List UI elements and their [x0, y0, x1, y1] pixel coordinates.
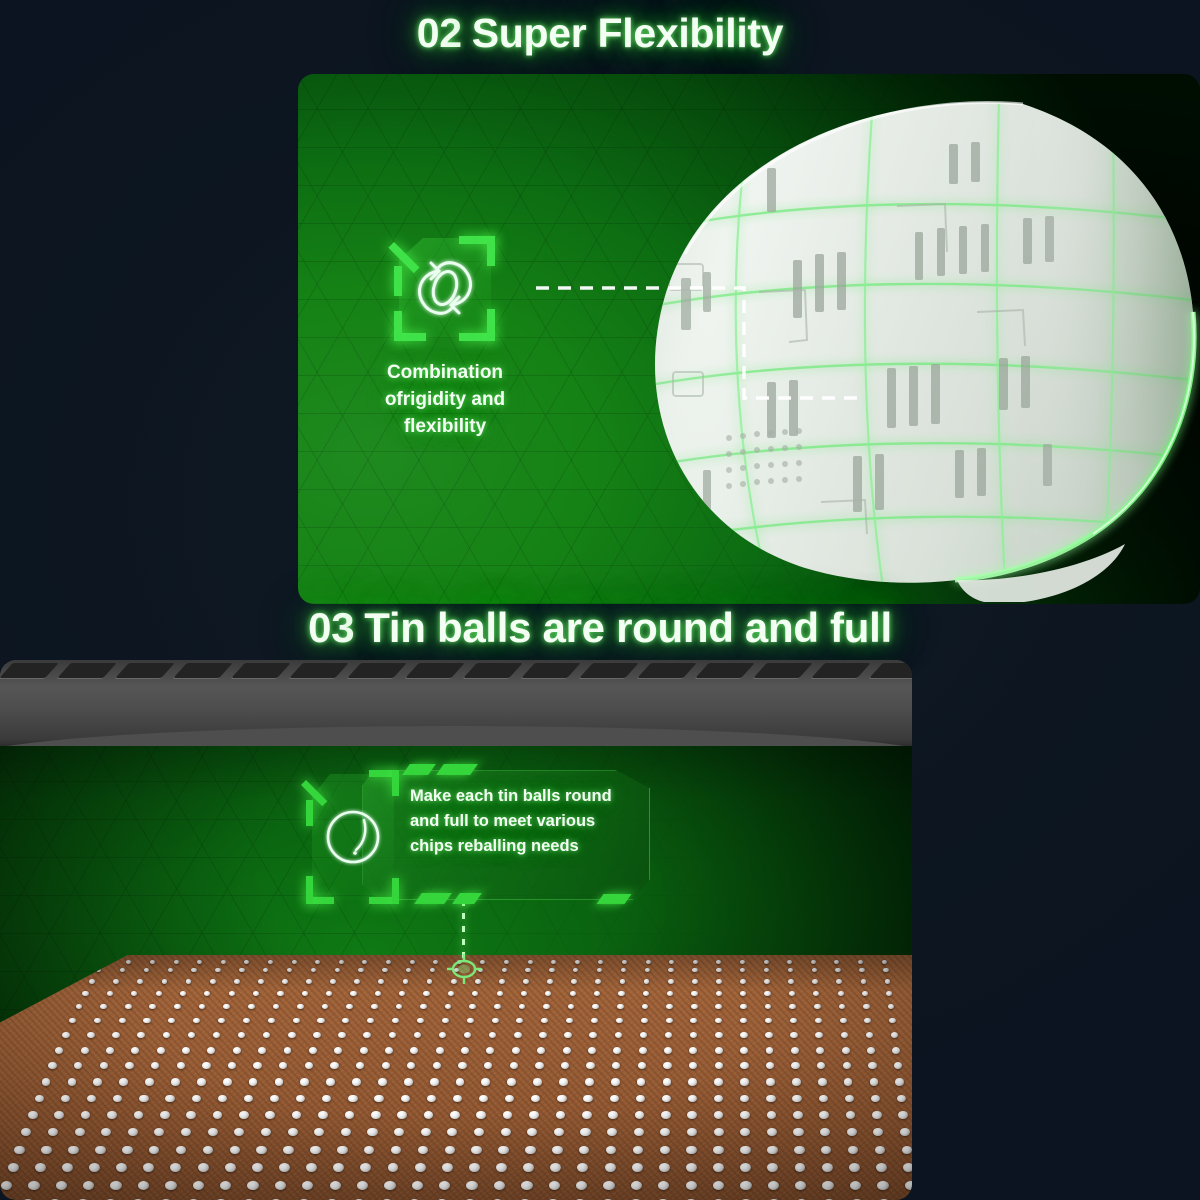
solder-ball	[877, 1181, 888, 1190]
solder-ball	[125, 1062, 133, 1069]
solder-ball	[559, 1078, 568, 1085]
solder-ball	[120, 968, 125, 972]
section-title-text-02: Super Flexibility	[472, 10, 784, 56]
solder-ball	[689, 1062, 697, 1069]
solder-ball	[275, 1181, 286, 1190]
solder-ball	[841, 1032, 849, 1038]
solder-ball	[330, 1062, 338, 1069]
solder-ball	[875, 1146, 886, 1155]
solder-ball	[270, 1095, 279, 1103]
solder-ball	[790, 1018, 797, 1024]
solder-ball	[598, 960, 603, 964]
solder-ball	[203, 1146, 214, 1155]
solder-ball	[163, 1032, 171, 1038]
solder-ball	[489, 1032, 497, 1038]
callout-line-1: Make each tin balls round	[410, 784, 638, 809]
solder-ball	[248, 1004, 255, 1009]
solder-ball	[714, 1111, 724, 1119]
solder-ball	[215, 968, 220, 972]
solder-ball	[646, 960, 651, 964]
vent-slot	[753, 663, 813, 678]
page-background: 02Super Flexibility	[0, 0, 1200, 1200]
solder-ball	[740, 979, 746, 984]
solder-ball	[848, 1146, 859, 1155]
solder-ball	[591, 1018, 598, 1024]
flexibility-caption: Combination ofrigidity and flexibility	[350, 360, 540, 441]
solder-ball	[112, 1032, 120, 1038]
solder-ball	[125, 1004, 132, 1009]
solder-ball	[606, 1146, 617, 1155]
solder-ball	[814, 1004, 821, 1009]
solder-ball	[338, 1032, 346, 1038]
solder-ball	[663, 1078, 672, 1085]
solder-ball	[401, 1095, 410, 1103]
solder-ball	[386, 960, 391, 964]
solder-ball	[766, 1062, 774, 1069]
solder-ball	[223, 1078, 232, 1085]
solder-ball	[635, 1111, 645, 1119]
solder-ball	[740, 1181, 751, 1190]
solder-ball	[74, 1062, 82, 1069]
solder-ball	[714, 1078, 723, 1085]
solder-ball	[523, 979, 529, 984]
solder-ball	[287, 968, 292, 972]
solder-ball	[846, 1111, 856, 1119]
solder-ball	[494, 1181, 505, 1190]
solder-ball	[220, 1181, 231, 1190]
solder-ball	[502, 968, 507, 972]
vent-slot	[869, 663, 912, 678]
solder-ball	[589, 1032, 597, 1038]
solder-ball	[539, 1032, 547, 1038]
solder-ball	[479, 1095, 488, 1103]
solder-ball	[330, 1181, 341, 1190]
solder-ball	[364, 1146, 375, 1155]
solder-ball	[35, 1163, 46, 1172]
solder-ball	[533, 1078, 542, 1085]
solder-ball	[234, 979, 240, 984]
solder-ball	[182, 1047, 190, 1054]
solder-ball	[143, 1018, 150, 1024]
solder-ball	[162, 979, 168, 984]
solder-ball	[612, 1062, 620, 1069]
solder-ball	[505, 1095, 514, 1103]
solder-ball	[48, 1062, 56, 1069]
solder-ball	[816, 1047, 824, 1054]
solder-ball	[594, 991, 600, 996]
solder-ball	[819, 1111, 829, 1119]
solder-ball	[867, 1047, 875, 1054]
solder-ball	[528, 960, 533, 964]
tin-balls-callout: Make each tin balls round and full to me…	[300, 762, 650, 922]
solder-ball	[597, 968, 602, 972]
solder-ball	[689, 1047, 697, 1054]
solder-ball	[634, 1128, 644, 1136]
solder-ball	[616, 1018, 623, 1024]
solder-ball	[346, 1004, 353, 1009]
solder-ball	[766, 1047, 774, 1054]
solder-ball	[790, 1032, 798, 1038]
solder-ball	[358, 968, 363, 972]
solder-ball	[439, 1032, 447, 1038]
solder-ball	[244, 1095, 253, 1103]
solder-ball	[525, 968, 530, 972]
solder-ball	[815, 1018, 822, 1024]
solder-ball	[845, 1095, 854, 1103]
solder-ball	[550, 1163, 561, 1172]
solder-ball	[93, 1078, 102, 1085]
solder-ball	[107, 991, 113, 996]
solder-ball	[610, 1095, 619, 1103]
solder-ball	[293, 1018, 300, 1024]
solder-ball	[586, 1062, 594, 1069]
solder-ball	[898, 1111, 908, 1119]
solder-ball	[844, 1078, 853, 1085]
solder-ball	[472, 991, 478, 996]
solder-ball	[333, 1163, 344, 1172]
solder-ball	[256, 1146, 267, 1155]
solder-ball	[850, 1181, 861, 1190]
solder-ball	[764, 991, 770, 996]
solder-ball	[715, 1062, 723, 1069]
solder-ball	[131, 1047, 139, 1054]
solder-ball	[557, 1095, 566, 1103]
solder-ball	[476, 1111, 486, 1119]
solder-ball	[469, 1004, 476, 1009]
flexibility-callout: Combination ofrigidity and flexibility	[350, 232, 540, 441]
solder-ball	[177, 1062, 185, 1069]
solder-ball	[660, 1146, 671, 1155]
solder-ball	[228, 1062, 236, 1069]
solder-ball	[197, 1078, 206, 1085]
solder-ball	[603, 1181, 614, 1190]
solder-ball	[474, 1128, 484, 1136]
solder-ball	[407, 1062, 415, 1069]
solder-ball	[181, 1128, 191, 1136]
solder-ball	[834, 960, 839, 964]
solder-ball	[277, 991, 283, 996]
solder-ball	[863, 1004, 870, 1009]
solder-ball	[445, 1146, 456, 1155]
solder-ball	[157, 1047, 165, 1054]
solder-ball	[579, 1146, 590, 1155]
solder-ball	[406, 968, 411, 972]
solder-ball	[1, 1181, 12, 1190]
solder-ball	[82, 991, 88, 996]
solder-ball	[788, 968, 793, 972]
solder-ball	[892, 1047, 900, 1054]
frame-corner-br-vertical	[487, 309, 495, 341]
solder-ball	[714, 1128, 724, 1136]
solder-ball	[871, 1095, 880, 1103]
caption-line-1: Combination	[350, 360, 540, 387]
solder-ball	[523, 1163, 534, 1172]
solder-ball	[595, 979, 601, 984]
solder-ball	[439, 1181, 450, 1190]
solder-ball	[716, 968, 721, 972]
solder-ball	[617, 1004, 624, 1009]
solder-ball	[221, 960, 226, 964]
solder-ball	[668, 979, 674, 984]
solder-ball	[202, 1062, 210, 1069]
solder-ball	[55, 1047, 63, 1054]
solder-ball	[391, 1146, 402, 1155]
solder-ball	[658, 1181, 669, 1190]
solder-ball	[284, 1047, 292, 1054]
solder-ball	[611, 1078, 620, 1085]
solder-ball	[740, 1111, 750, 1119]
solder-ball	[469, 1163, 480, 1172]
solder-ball	[868, 1062, 876, 1069]
solder-ball	[554, 1128, 564, 1136]
solder-ball	[812, 968, 817, 972]
machine-vent-bar	[0, 660, 912, 746]
solder-ball	[568, 1004, 575, 1009]
solder-ball	[605, 1163, 616, 1172]
vent-slot	[463, 663, 523, 678]
solder-ball	[497, 991, 503, 996]
solder-ball	[367, 1128, 377, 1136]
solder-ball	[766, 1095, 775, 1103]
solder-ball	[282, 979, 288, 984]
solder-ball	[244, 960, 249, 964]
solder-ball	[791, 1062, 799, 1069]
solder-ball	[341, 1128, 351, 1136]
section-title-flexibility: 02Super Flexibility	[0, 10, 1200, 57]
target-reticle-icon	[444, 952, 484, 986]
solder-ball	[564, 1032, 572, 1038]
solder-ball	[89, 979, 95, 984]
solder-ball	[872, 1111, 882, 1119]
solder-ball	[840, 1018, 847, 1024]
solder-ball	[740, 1095, 749, 1103]
solder-ball	[791, 1047, 799, 1054]
solder-ball	[253, 991, 259, 996]
solder-ball	[792, 1078, 801, 1085]
sphere-outline-icon	[304, 766, 402, 908]
solder-ball	[820, 1128, 830, 1136]
solder-ball	[247, 1181, 258, 1190]
solder-ball	[889, 1018, 896, 1024]
solder-ball	[900, 1128, 910, 1136]
solder-ball	[492, 1018, 499, 1024]
solder-ball	[410, 960, 415, 964]
solder-ball	[356, 1062, 364, 1069]
solder-ball	[504, 960, 509, 964]
frame-corner-bl-vertical	[394, 311, 402, 341]
solder-ball	[556, 1111, 566, 1119]
solder-ball	[859, 968, 864, 972]
solder-ball	[447, 1128, 457, 1136]
solder-ball	[638, 1062, 646, 1069]
solder-ball	[314, 1128, 324, 1136]
solder-ball	[486, 1047, 494, 1054]
solder-ball	[265, 1111, 275, 1119]
solder-ball	[326, 1078, 335, 1085]
solder-ball	[794, 1146, 805, 1155]
frame2-corner-tl-vertical	[306, 800, 313, 826]
solder-ball	[268, 1018, 275, 1024]
solder-ball	[170, 1163, 181, 1172]
solder-ball	[335, 968, 340, 972]
solder-ball	[188, 1032, 196, 1038]
solder-ball	[225, 1163, 236, 1172]
solder-ball	[715, 1018, 722, 1024]
solder-ball	[297, 1004, 304, 1009]
solder-ball	[552, 1146, 563, 1155]
solder-ball	[279, 1062, 287, 1069]
solder-ball	[713, 1146, 724, 1155]
solder-ball	[143, 1163, 154, 1172]
solder-ball	[360, 1047, 368, 1054]
solder-ball	[765, 1032, 773, 1038]
vent-slot	[579, 663, 639, 678]
solder-ball	[14, 1146, 25, 1155]
solder-ball	[740, 1004, 747, 1009]
solder-ball	[110, 1181, 121, 1190]
solder-ball	[862, 991, 868, 996]
solder-ball	[588, 1047, 596, 1054]
solder-ball	[317, 1018, 324, 1024]
solder-ball	[417, 1018, 424, 1024]
solder-ball	[464, 1032, 472, 1038]
solder-ball	[180, 991, 186, 996]
vent-slot	[405, 663, 465, 678]
solder-ball	[687, 1128, 697, 1136]
solder-ball	[715, 1004, 722, 1009]
solder-ball	[213, 1032, 221, 1038]
solder-ball	[665, 1032, 673, 1038]
solder-ball	[208, 1128, 218, 1136]
solder-ball	[767, 1163, 778, 1172]
solder-ball	[789, 1004, 796, 1009]
solder-ball	[35, 1095, 44, 1103]
solder-ball	[218, 1095, 227, 1103]
solder-ball	[764, 968, 769, 972]
solder-ball	[481, 1078, 490, 1085]
solder-ball	[192, 1095, 201, 1103]
solder-ball	[690, 1032, 698, 1038]
solder-ball	[28, 1181, 39, 1190]
solder-ball	[768, 1181, 779, 1190]
solder-ball	[448, 991, 454, 996]
solder-ball	[374, 1095, 383, 1103]
solder-ball	[375, 991, 381, 996]
solder-ball	[503, 1111, 513, 1119]
solder-ball	[580, 1128, 590, 1136]
solder-ball	[793, 1128, 803, 1136]
frame-corner-tr-vertical	[487, 236, 495, 266]
solder-ball	[693, 960, 698, 964]
solder-ball	[279, 1163, 290, 1172]
solder-ball	[842, 1047, 850, 1054]
solder-ball	[902, 1146, 912, 1155]
solder-ball	[527, 1128, 537, 1136]
solder-ball	[252, 1163, 263, 1172]
callout-accent-tab-5	[596, 894, 631, 904]
solder-ball	[571, 979, 577, 984]
solder-ball	[740, 1128, 750, 1136]
solder-ball	[764, 979, 770, 984]
solder-ball	[793, 1111, 803, 1119]
solder-ball	[68, 1146, 79, 1155]
solder-ball	[471, 1146, 482, 1155]
solder-ball	[199, 1004, 206, 1009]
solder-ball	[716, 960, 721, 964]
solder-ball	[412, 1181, 423, 1190]
vent-slot	[57, 663, 117, 678]
solder-ball	[592, 1004, 599, 1009]
solder-ball	[764, 960, 769, 964]
solder-ball	[430, 1078, 439, 1085]
solder-ball	[156, 991, 162, 996]
solder-ball	[885, 979, 891, 984]
callout-accent-tab-3	[414, 893, 452, 904]
solder-ball	[160, 1111, 170, 1119]
solder-ball	[330, 979, 336, 984]
solder-ball	[645, 968, 650, 972]
solder-ball	[547, 979, 553, 984]
solder-ball	[715, 1047, 723, 1054]
solder-ball	[740, 1047, 748, 1054]
solder-ball	[313, 1032, 321, 1038]
solder-ball	[632, 1163, 643, 1172]
solder-ball	[311, 968, 316, 972]
solder-ball	[122, 1146, 133, 1155]
solder-ball	[54, 1111, 64, 1119]
solder-ball	[310, 1146, 321, 1155]
solder-ball	[389, 1032, 397, 1038]
solder-ball	[541, 1018, 548, 1024]
solder-ball	[371, 1004, 378, 1009]
solder-ball	[661, 1111, 671, 1119]
solder-ball	[154, 1128, 164, 1136]
solder-ball	[116, 1163, 127, 1172]
recycle-loop-icon	[393, 232, 497, 344]
solder-ball	[258, 1047, 266, 1054]
solder-ball	[149, 1004, 156, 1009]
solder-ball	[691, 1004, 698, 1009]
solder-ball	[352, 1078, 361, 1085]
solder-ball	[766, 1078, 775, 1085]
solder-ball	[151, 1062, 159, 1069]
solder-ball	[615, 1032, 623, 1038]
solder-ball	[537, 1047, 545, 1054]
solder-ball	[275, 1078, 284, 1085]
solder-ball	[664, 1047, 672, 1054]
solder-ball	[836, 979, 842, 984]
solder-ball	[767, 1128, 777, 1136]
solder-ball	[230, 1146, 241, 1155]
solder-ball	[643, 991, 649, 996]
solder-ball	[300, 1078, 309, 1085]
solder-ball	[305, 1062, 313, 1069]
solder-ball	[636, 1095, 645, 1103]
solder-ball	[385, 1047, 393, 1054]
solder-ball	[716, 979, 722, 984]
vent-slot	[347, 663, 407, 678]
solder-ball	[239, 968, 244, 972]
solder-ball	[342, 1018, 349, 1024]
solder-ball	[149, 1146, 160, 1155]
solder-ball	[716, 991, 722, 996]
vent-slot	[289, 663, 349, 678]
solder-ball	[847, 1128, 857, 1136]
solder-ball	[882, 960, 887, 964]
solder-ball	[641, 1018, 648, 1024]
solder-ball	[81, 1111, 91, 1119]
solder-ball	[640, 1032, 648, 1038]
